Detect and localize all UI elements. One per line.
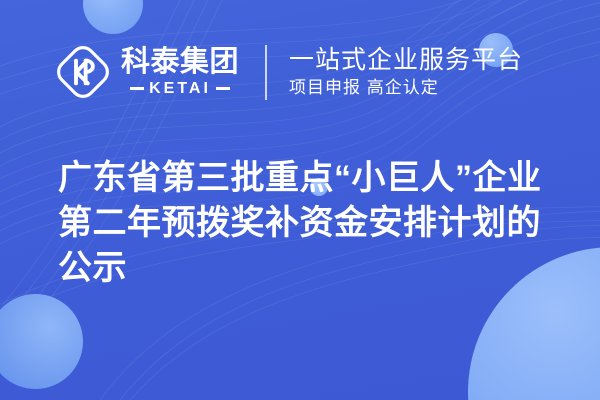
brand-name-cn: 科泰集团 bbox=[121, 47, 239, 78]
brand-tagline: 一站式企业服务平台 项目申报 高企认定 bbox=[289, 45, 523, 100]
decor-circle-bottom-left bbox=[0, 294, 83, 389]
decor-circle-top bbox=[83, 0, 143, 34]
brand-name-en-row: KETAI bbox=[130, 80, 230, 97]
wordmark-rule-right bbox=[216, 87, 230, 90]
banner-header: 科泰集团 KETAI 一站式企业服务平台 项目申报 高企认定 bbox=[0, 38, 600, 106]
announcement-banner: 科泰集团 KETAI 一站式企业服务平台 项目申报 高企认定 广东省第三批重点“… bbox=[0, 0, 600, 400]
ketai-diamond-monogram-icon bbox=[55, 44, 111, 100]
brand-name-en: KETAI bbox=[149, 80, 211, 97]
page-title: 广东省第三批重点“小巨人”企业第二年预拨奖补资金安排计划的公示 bbox=[58, 156, 568, 291]
header-divider bbox=[265, 45, 267, 100]
tagline-primary: 一站式企业服务平台 bbox=[289, 45, 523, 75]
brand-logo: 科泰集团 KETAI bbox=[55, 44, 239, 100]
brand-wordmark: 科泰集团 KETAI bbox=[121, 47, 239, 97]
tagline-secondary: 项目申报 高企认定 bbox=[289, 76, 523, 100]
wordmark-rule-left bbox=[130, 87, 144, 90]
